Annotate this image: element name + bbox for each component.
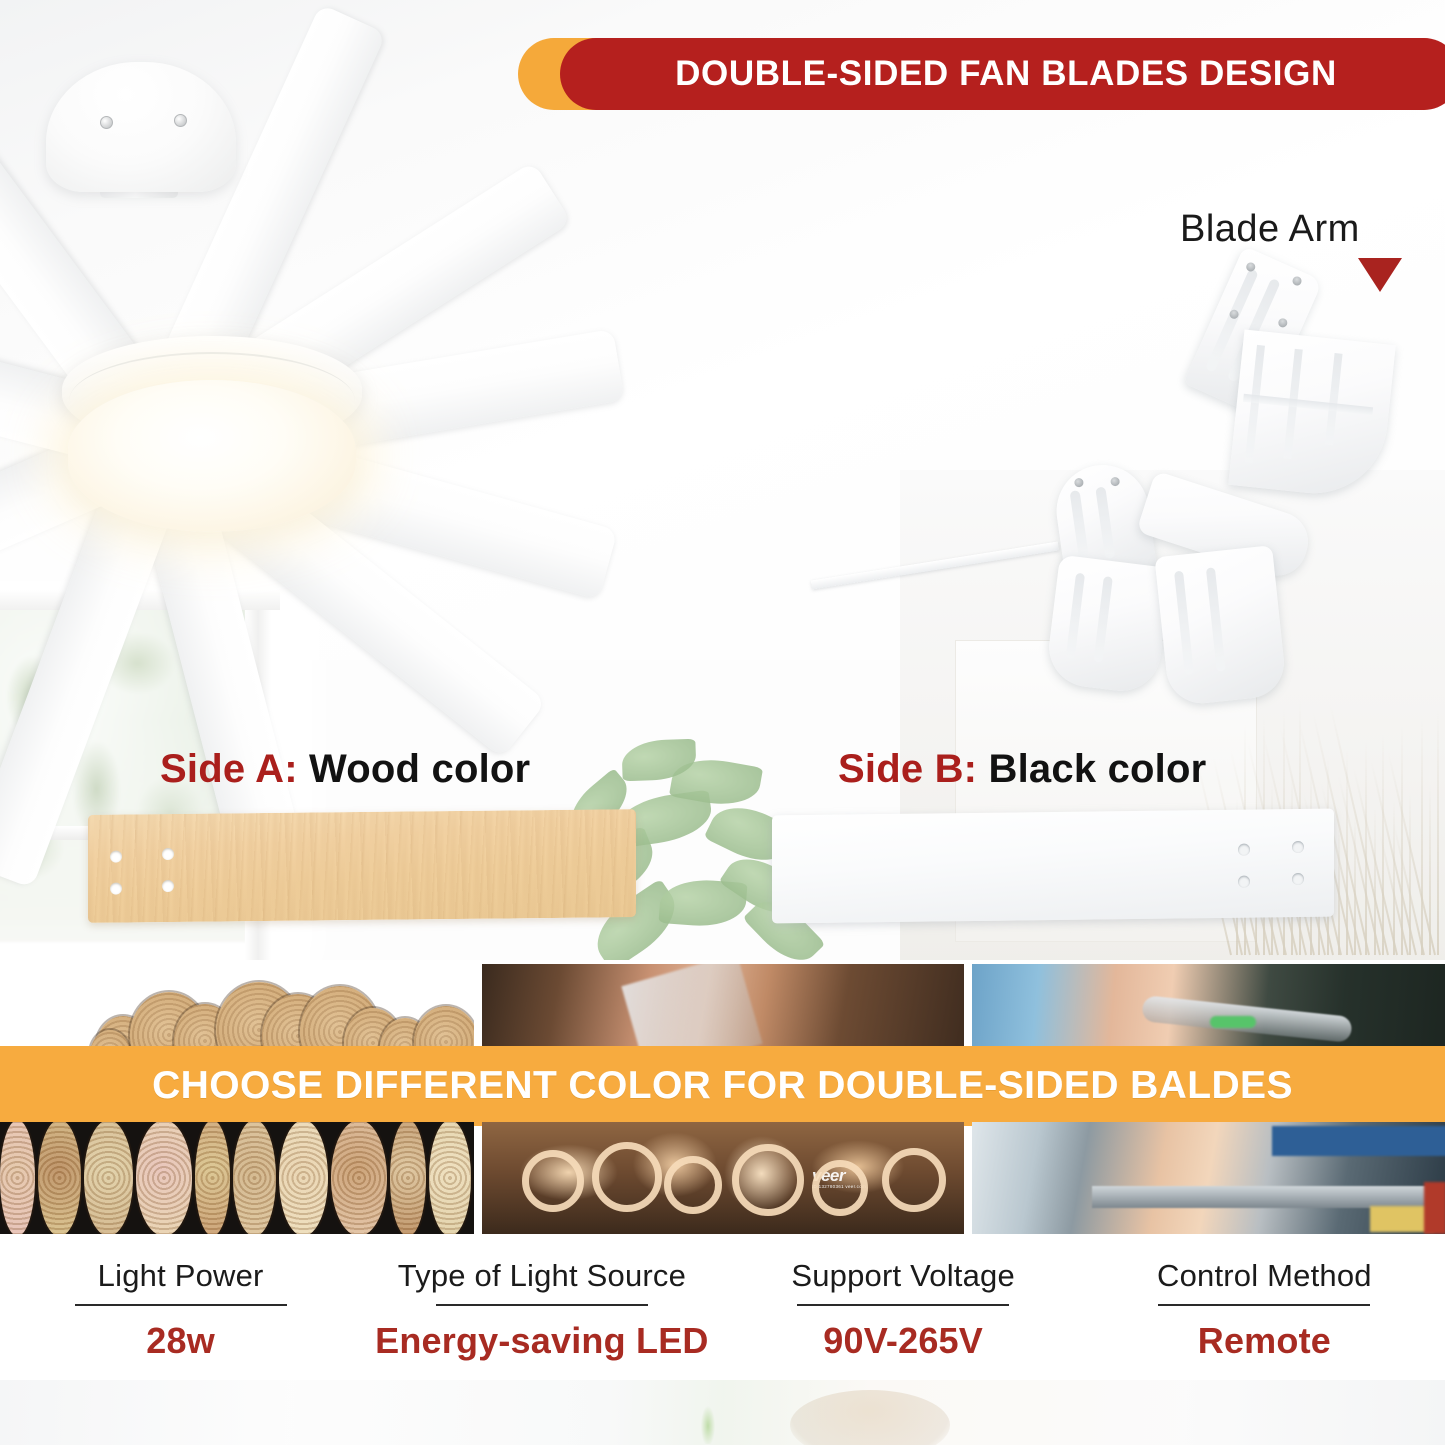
fan-led-light	[68, 380, 356, 532]
spec-cell: Control MethodRemote	[1084, 1234, 1445, 1384]
bracket-rib	[1066, 573, 1085, 659]
spec-divider	[797, 1304, 1009, 1306]
blade-hole	[1292, 841, 1304, 853]
spec-divider	[436, 1304, 648, 1306]
log-end-grain	[38, 1122, 80, 1234]
side-a-label: Side A: Wood color	[160, 747, 530, 792]
blade-arm-pointer-icon	[1358, 258, 1402, 292]
blade-sample-wood	[88, 809, 636, 923]
header-banner: DOUBLE-SIDED FAN BLADES DESIGN	[560, 38, 1445, 110]
spec-cell: Support Voltage90V-265V	[723, 1234, 1084, 1384]
bracket-rib	[1206, 567, 1226, 671]
side-b-label: Side B: Black color	[838, 747, 1206, 792]
blade-hole	[162, 848, 174, 860]
log-end-grain	[0, 1122, 35, 1234]
product-infographic: DOUBLE-SIDED FAN BLADES DESIGN Blade Arm…	[0, 0, 1445, 1445]
side-b-key: Side B:	[838, 747, 977, 791]
mid-banner: CHOOSE DIFFERENT COLOR FOR DOUBLE-SIDED …	[0, 1046, 1445, 1126]
log-end-grain	[279, 1122, 328, 1234]
spec-cell: Light Power28w	[0, 1234, 361, 1384]
photo-strip-bottom: veer ID 132780361 veer.com	[0, 1122, 1445, 1234]
spec-ghost-photo	[0, 1380, 1445, 1445]
spec-label: Light Power	[98, 1258, 264, 1294]
spec-label: Support Voltage	[791, 1258, 1015, 1294]
blade-hole	[1292, 873, 1304, 885]
wood-shaving-curl	[732, 1144, 804, 1216]
mid-banner-text: CHOOSE DIFFERENT COLOR FOR DOUBLE-SIDED …	[152, 1064, 1293, 1108]
wood-shaving-curl	[522, 1150, 584, 1212]
spec-value: 90V-265V	[823, 1320, 983, 1362]
spec-value: 28w	[146, 1320, 215, 1362]
wood-shaving-curl	[812, 1160, 868, 1216]
spec-divider	[75, 1304, 287, 1306]
photo-workshop-bench	[972, 1122, 1445, 1234]
header-banner-text: DOUBLE-SIDED FAN BLADES DESIGN	[675, 54, 1345, 94]
wood-shaving-curl	[592, 1142, 662, 1212]
blade-arm-bracket-lower	[1000, 465, 1360, 730]
log-end-grain	[429, 1122, 471, 1234]
bracket-rib	[1245, 345, 1265, 463]
blade-hole	[162, 880, 174, 892]
spec-label: Control Method	[1157, 1258, 1372, 1294]
grass-blade	[1365, 742, 1367, 955]
bracket-hole	[1291, 275, 1303, 287]
bracket-rib	[1070, 490, 1090, 563]
canopy-screw	[174, 114, 187, 127]
blade-hole	[110, 883, 122, 895]
blade-sample-reverse	[772, 809, 1334, 924]
spec-table: Light Power28wType of Light SourceEnergy…	[0, 1234, 1445, 1445]
bracket-rib	[1093, 576, 1112, 662]
bracket-rib	[1243, 394, 1373, 416]
bracket-leg-right	[1154, 545, 1287, 707]
log-end-grain	[390, 1122, 425, 1234]
photo-wood-shavings: veer ID 132780361 veer.com	[482, 1122, 964, 1234]
wood-shaving-curl	[664, 1156, 722, 1214]
fan-canopy	[46, 62, 236, 192]
bracket-leg-left	[1045, 555, 1172, 696]
wood-shaving-curl	[882, 1148, 946, 1212]
spec-value: Remote	[1198, 1320, 1331, 1362]
bracket-rib	[1325, 353, 1343, 445]
spec-cell: Type of Light SourceEnergy-saving LED	[361, 1234, 722, 1384]
ceiling-fan	[0, 40, 1060, 720]
blade-hole	[1238, 876, 1250, 888]
side-a-key: Side A:	[160, 747, 298, 791]
blade-arm-label: Blade Arm	[1180, 208, 1360, 251]
grass-blade	[1421, 718, 1423, 955]
spec-value: Energy-saving LED	[375, 1320, 708, 1362]
spec-label: Type of Light Source	[398, 1258, 686, 1294]
log-end-grain	[233, 1122, 275, 1234]
bracket-rib	[1095, 486, 1115, 559]
log-end-grain	[331, 1122, 387, 1234]
photo-logs-stacked	[0, 1122, 474, 1234]
hero-scene: DOUBLE-SIDED FAN BLADES DESIGN Blade Arm…	[0, 0, 1445, 960]
log-end-grain	[84, 1122, 133, 1234]
log-end-grain	[136, 1122, 192, 1234]
bracket-hole	[1277, 317, 1289, 329]
spec-divider	[1158, 1304, 1370, 1306]
bracket-hole	[1074, 478, 1084, 488]
bracket-rib	[1174, 571, 1194, 675]
bracket-hole	[1110, 476, 1120, 486]
blade-hole	[110, 851, 122, 863]
blade-hole	[1238, 844, 1250, 856]
canopy-screw	[100, 116, 113, 129]
grass-blade	[1437, 710, 1439, 955]
side-b-value: Black color	[989, 747, 1207, 791]
grass-blade	[1401, 726, 1403, 955]
log-end-grain	[195, 1122, 230, 1234]
side-a-value: Wood color	[309, 747, 530, 791]
